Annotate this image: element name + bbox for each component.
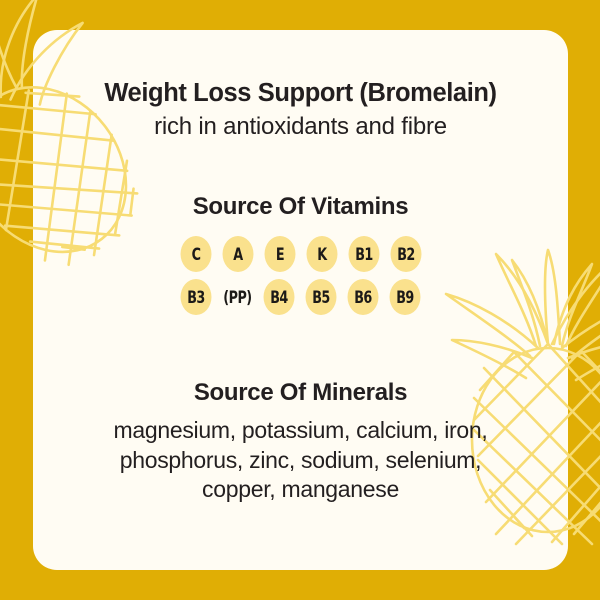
vitamin-badge-row-2: B3 (PP) B4 B5 B6 B9 — [178, 279, 423, 315]
vitamin-badge: B3 — [181, 279, 212, 315]
vitamin-badge: B5 — [305, 279, 336, 315]
minerals-line: phosphorus, zinc, sodium, selenium, — [114, 446, 488, 475]
vitamin-badge: B2 — [390, 236, 421, 272]
card-content: Weight Loss Support (Bromelain) rich in … — [33, 30, 568, 570]
vitamins-section-title: Source Of Vitamins — [193, 193, 409, 221]
vitamin-badge: A — [222, 236, 253, 272]
minerals-list: magnesium, potassium, calcium, iron, pho… — [114, 416, 488, 504]
page-title: Weight Loss Support (Bromelain) — [104, 78, 496, 108]
vitamin-badge: B4 — [263, 279, 294, 315]
vitamin-badge: B6 — [347, 279, 378, 315]
vitamin-badge: B9 — [389, 279, 420, 315]
minerals-section-title: Source Of Minerals — [194, 379, 407, 407]
minerals-line: copper, manganese — [114, 475, 488, 504]
vitamin-badge-note: (PP) — [222, 279, 252, 315]
vitamin-badge: B1 — [348, 236, 379, 272]
minerals-line: magnesium, potassium, calcium, iron, — [114, 416, 488, 445]
poster-root: Weight Loss Support (Bromelain) rich in … — [0, 0, 600, 600]
vitamin-badge: E — [264, 236, 295, 272]
page-subtitle: rich in antioxidants and fibre — [154, 113, 447, 141]
vitamin-badge: K — [306, 236, 337, 272]
vitamin-badge: C — [180, 236, 211, 272]
vitamin-badge-row-1: C A E K B1 B2 — [178, 236, 424, 272]
